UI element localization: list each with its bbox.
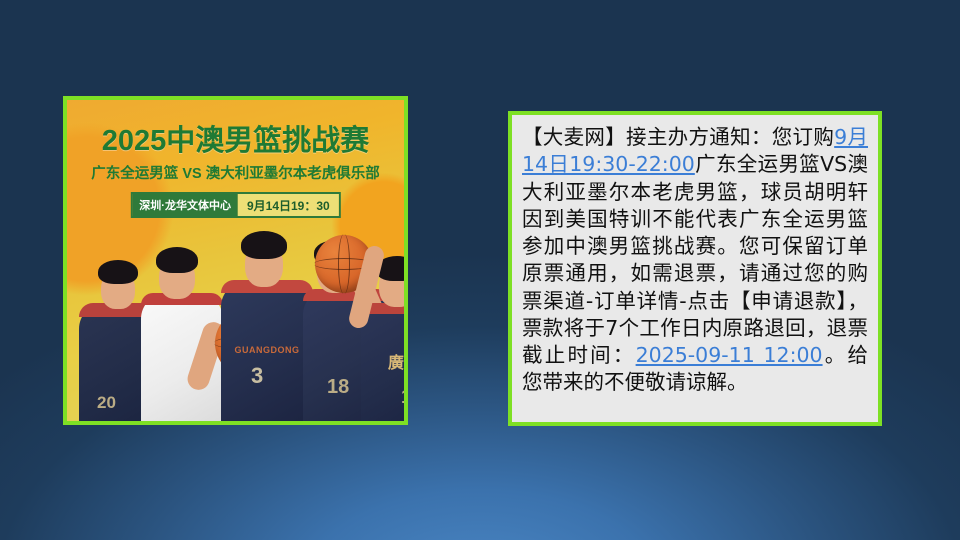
sms-text-2: 广东全运男篮VS澳大利亚墨尔本老虎男篮，球员胡明轩因到美国特训不能代表广东全运男… (522, 152, 868, 367)
player-20-hair (98, 260, 138, 284)
player-11-number: 11 (401, 387, 408, 409)
poster-subtitle: 广东全运男篮 VS 澳大利亚墨尔本老虎俱乐部 (67, 162, 404, 183)
event-poster-card[interactable]: 20 GUANGDONG 3 (63, 96, 408, 425)
sms-message-panel[interactable]: 【大麦网】接主办方通知：您订购9月14日19:30-22:00广东全运男篮VS澳… (508, 111, 882, 426)
player-20-number: 20 (97, 393, 116, 413)
player-figure-11: 廣東 11 (355, 249, 408, 421)
screenshot-root: 20 GUANGDONG 3 (0, 0, 960, 540)
player-3-hair (241, 231, 287, 259)
sms-link-3[interactable]: 2025-09-11 12:00 (636, 343, 823, 367)
player-3-number: 3 (251, 363, 263, 389)
poster-players-illustration: 20 GUANGDONG 3 (67, 216, 404, 421)
poster-info-badge: 深圳·龙华文体中心 9月14日19：30 (130, 192, 340, 218)
player-3-wordmark: GUANGDONG (231, 345, 303, 355)
poster-title: 2025中澳男篮挑战赛 (67, 117, 404, 159)
player-11-wordmark-cn: 廣東 (375, 349, 408, 373)
poster-datetime-label: 9月14日19：30 (238, 194, 339, 216)
sms-message-text: 【大麦网】接主办方通知：您订购9月14日19:30-22:00广东全运男篮VS澳… (522, 124, 868, 397)
player-white-hair (156, 247, 198, 273)
player-18-number: 18 (327, 376, 349, 399)
poster-venue-label: 深圳·龙华文体中心 (132, 194, 238, 216)
sms-text-0: 【大麦网】接主办方通知：您订购 (522, 125, 834, 149)
